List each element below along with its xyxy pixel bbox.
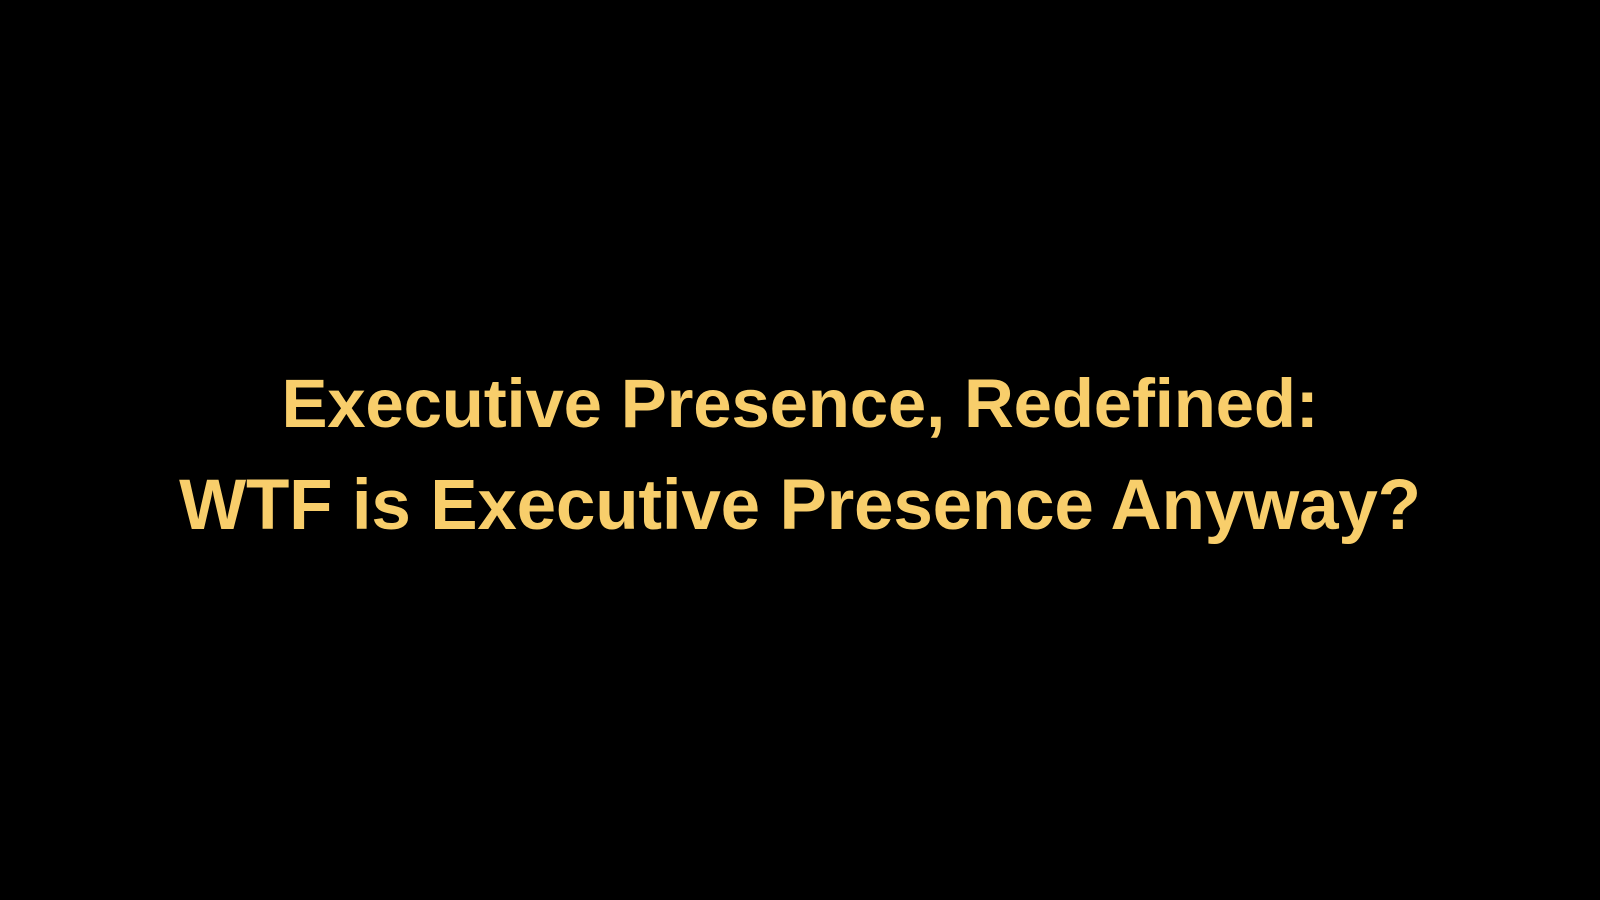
- title-line-1: Executive Presence, Redefined:: [90, 353, 1510, 455]
- title-slide: Executive Presence, Redefined: WTF is Ex…: [0, 0, 1600, 900]
- slide-title: Executive Presence, Redefined: WTF is Ex…: [90, 353, 1510, 557]
- title-line-2: WTF is Executive Presence Anyway?: [90, 455, 1510, 557]
